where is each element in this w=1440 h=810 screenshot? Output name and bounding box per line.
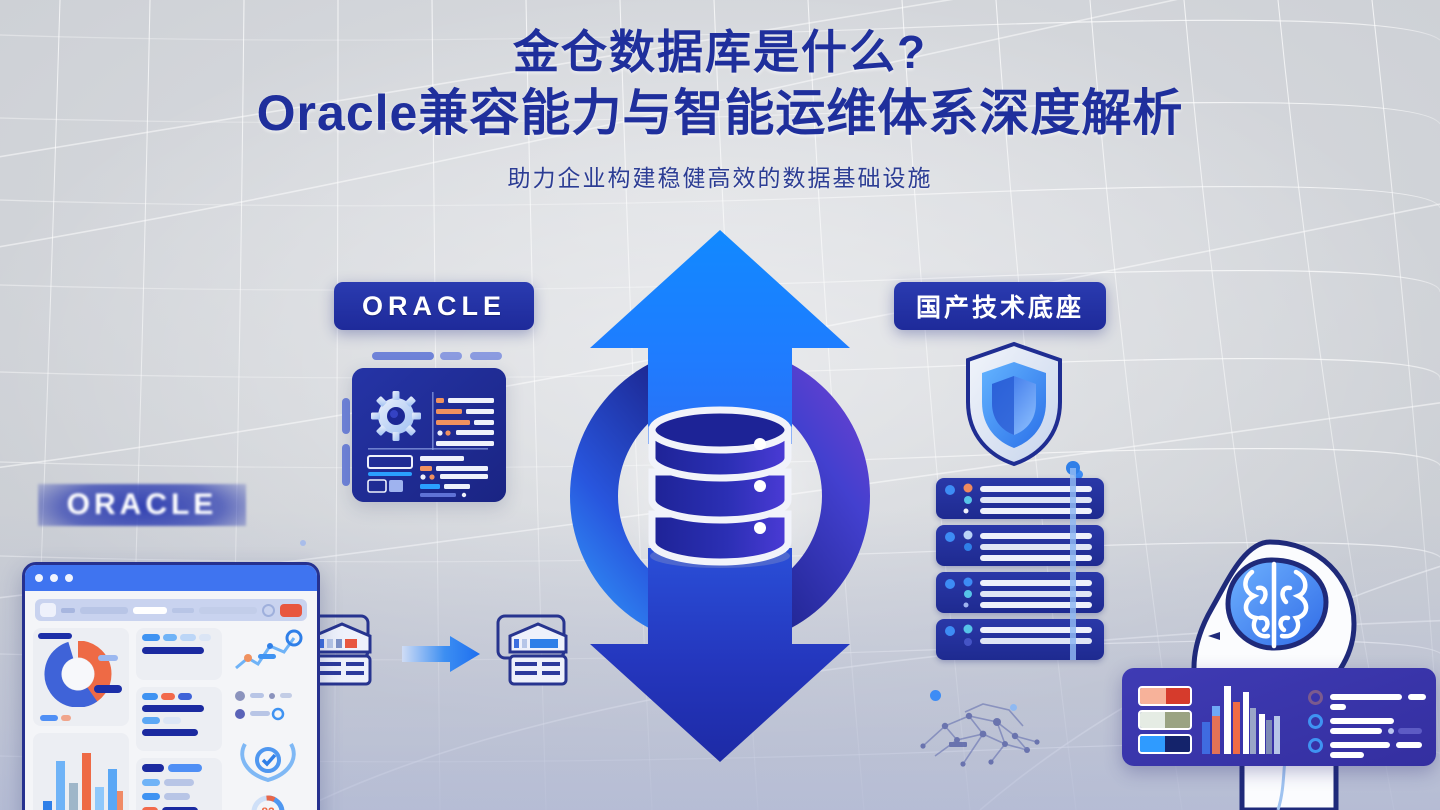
badge-oracle-left: ORACLE bbox=[38, 484, 246, 526]
page-title: 金仓数据库是什么? Oracle兼容能力与智能运维体系深度解析 助力企业构建稳健… bbox=[0, 26, 1440, 193]
ai-line bbox=[1330, 694, 1402, 700]
ai-analytics-panel bbox=[1122, 668, 1436, 766]
accent-dot bbox=[1010, 704, 1017, 711]
addr-seg bbox=[61, 608, 75, 613]
badge-oracle-top: ORACLE bbox=[334, 282, 534, 330]
ai-line bbox=[1330, 728, 1382, 734]
panel-sidetab-2 bbox=[342, 444, 350, 486]
panel-tab-2 bbox=[440, 352, 462, 360]
center-sync-graphic bbox=[520, 226, 920, 766]
addr-seg bbox=[172, 608, 194, 613]
network-nodes-icon bbox=[905, 692, 1065, 778]
accent-dot bbox=[300, 540, 306, 546]
browser-dashboard[interactable]: 82 35 bbox=[22, 562, 320, 810]
bar-chart-card bbox=[33, 733, 129, 810]
addr-field[interactable] bbox=[80, 607, 128, 614]
record-button[interactable] bbox=[280, 604, 302, 617]
reload-icon[interactable] bbox=[262, 604, 275, 617]
accent-dot bbox=[930, 690, 941, 701]
donut-card bbox=[33, 628, 129, 726]
window-maximize-dot[interactable] bbox=[65, 574, 73, 582]
panel-tab-1 bbox=[372, 352, 434, 360]
ai-progress-bar bbox=[1138, 710, 1192, 730]
shield-icon bbox=[962, 340, 1066, 468]
ai-line bbox=[1330, 742, 1390, 748]
server-rack-icon bbox=[936, 478, 1104, 660]
oracle-compat-code-panel bbox=[352, 368, 506, 502]
node-list-icon bbox=[232, 687, 304, 727]
arrow-right-icon bbox=[402, 636, 480, 672]
ai-line bbox=[1396, 742, 1422, 748]
gear-icon bbox=[371, 391, 421, 441]
gauges: 82 35 bbox=[248, 793, 288, 810]
ai-line bbox=[1330, 718, 1394, 724]
list-card-1 bbox=[136, 628, 222, 680]
ai-bullet-ring bbox=[1308, 690, 1323, 705]
gauge-value-1: 82 bbox=[249, 793, 287, 810]
addr-highlight bbox=[133, 607, 167, 614]
ai-line bbox=[1398, 728, 1422, 734]
badge-oracle-top-label: ORACLE bbox=[362, 291, 506, 322]
dashboard-body: 82 35 bbox=[25, 621, 317, 810]
ai-line bbox=[1408, 694, 1426, 700]
window-minimize-dot[interactable] bbox=[50, 574, 58, 582]
addr-tail bbox=[199, 607, 257, 614]
bar-chart bbox=[39, 739, 123, 810]
trend-line-chart bbox=[232, 628, 304, 678]
back-icon[interactable] bbox=[40, 603, 56, 617]
database-cylinder-icon bbox=[650, 410, 790, 568]
ai-progress-bar bbox=[1138, 686, 1192, 706]
list-card-2 bbox=[136, 687, 222, 751]
badge-domestic-base-label: 国产技术底座 bbox=[916, 288, 1084, 324]
list-card-3 bbox=[136, 758, 222, 810]
subtitle: 助力企业构建稳健高效的数据基础设施 bbox=[0, 159, 1440, 193]
badge-domestic-base: 国产技术底座 bbox=[894, 282, 1106, 330]
window-close-dot[interactable] bbox=[35, 574, 43, 582]
panel-tab-3 bbox=[470, 352, 502, 360]
slide-canvas: 金仓数据库是什么? Oracle兼容能力与智能运维体系深度解析 助力企业构建稳健… bbox=[0, 0, 1440, 810]
ai-line bbox=[1330, 752, 1364, 758]
panel-sidetab-1 bbox=[342, 398, 350, 434]
ai-line bbox=[1330, 704, 1346, 710]
shield-badge-icon bbox=[235, 736, 301, 784]
title-line-1: 金仓数据库是什么? bbox=[0, 26, 1440, 79]
browser-titlebar bbox=[25, 565, 317, 591]
ai-bullet-ring bbox=[1308, 714, 1323, 729]
donut-chart bbox=[38, 641, 124, 707]
badge-oracle-left-label: ORACLE bbox=[67, 488, 218, 522]
browser-address-bar[interactable] bbox=[35, 599, 307, 621]
ai-bar-chart bbox=[1200, 680, 1286, 754]
ai-progress-bar bbox=[1138, 734, 1192, 754]
ai-line bbox=[1388, 728, 1394, 734]
title-line-2: Oracle兼容能力与智能运维体系深度解析 bbox=[0, 83, 1440, 143]
rack-connector bbox=[1062, 460, 1084, 680]
ai-bullet-ring bbox=[1308, 738, 1323, 753]
